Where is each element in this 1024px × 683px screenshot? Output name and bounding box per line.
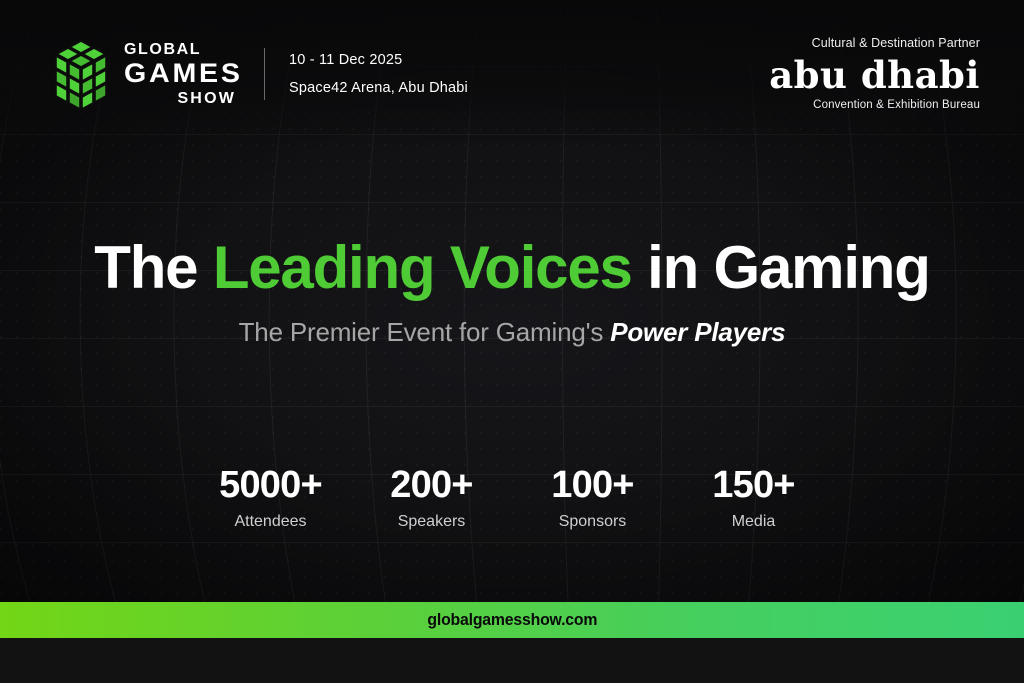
stat-item-media: 150+ Media (673, 466, 834, 531)
stat-value: 5000+ (190, 466, 351, 506)
headline-part-2: in Gaming (632, 234, 930, 301)
poster-header: GLOBAL GAMES SHOW 10 - 11 Dec 2025 Space… (0, 0, 1024, 148)
wordmark-games: GAMES (124, 60, 243, 87)
abu-dhabi-logo: abu dhabi (769, 57, 980, 94)
page-title: The Leading Voices in Gaming (0, 236, 1024, 301)
stat-value: 200+ (351, 466, 512, 506)
stats-row: 5000+ Attendees 200+ Speakers 100+ Spons… (0, 466, 1024, 531)
brand-wordmark: GLOBAL GAMES SHOW (124, 42, 236, 107)
stat-item-attendees: 5000+ Attendees (190, 466, 351, 531)
partner-subtitle: Convention & Exhibition Bureau (769, 100, 980, 112)
green-cube-logo-icon (48, 39, 114, 109)
page-subtitle: The Premier Event for Gaming's Power Pla… (0, 317, 1024, 348)
event-venue: Space42 Arena, Abu Dhabi (289, 74, 468, 102)
subtitle-normal: The Premier Event for Gaming's (239, 317, 611, 347)
stat-label: Attendees (190, 513, 351, 531)
website-url[interactable]: globalgamesshow.com (427, 610, 597, 630)
partner-kicker: Cultural & Destination Partner (769, 37, 980, 50)
stat-label: Speakers (351, 513, 512, 531)
stat-item-speakers: 200+ Speakers (351, 466, 512, 531)
brand-block: GLOBAL GAMES SHOW 10 - 11 Dec 2025 Space… (48, 39, 468, 109)
subtitle-emphasis: Power Players (610, 317, 785, 347)
headline-accent: Leading Voices (213, 234, 632, 301)
hero-section: The Leading Voices in Gaming The Premier… (0, 236, 1024, 348)
footer-gradient-bar: globalgamesshow.com (0, 602, 1024, 638)
stat-value: 150+ (673, 466, 834, 506)
wordmark-show: SHOW (177, 91, 236, 107)
event-details: 10 - 11 Dec 2025 Space42 Arena, Abu Dhab… (289, 46, 468, 103)
event-dates: 10 - 11 Dec 2025 (289, 46, 468, 74)
headline-part-1: The (94, 234, 213, 301)
stat-label: Media (673, 513, 834, 531)
event-poster: GLOBAL GAMES SHOW 10 - 11 Dec 2025 Space… (0, 0, 1024, 683)
stat-label: Sponsors (512, 513, 673, 531)
wordmark-global: GLOBAL (124, 42, 201, 58)
stat-item-sponsors: 100+ Sponsors (512, 466, 673, 531)
partner-block: Cultural & Destination Partner abu dhabi… (769, 37, 980, 111)
footer-bottom-strip (0, 638, 1024, 683)
stat-value: 100+ (512, 466, 673, 506)
header-divider (264, 48, 265, 100)
